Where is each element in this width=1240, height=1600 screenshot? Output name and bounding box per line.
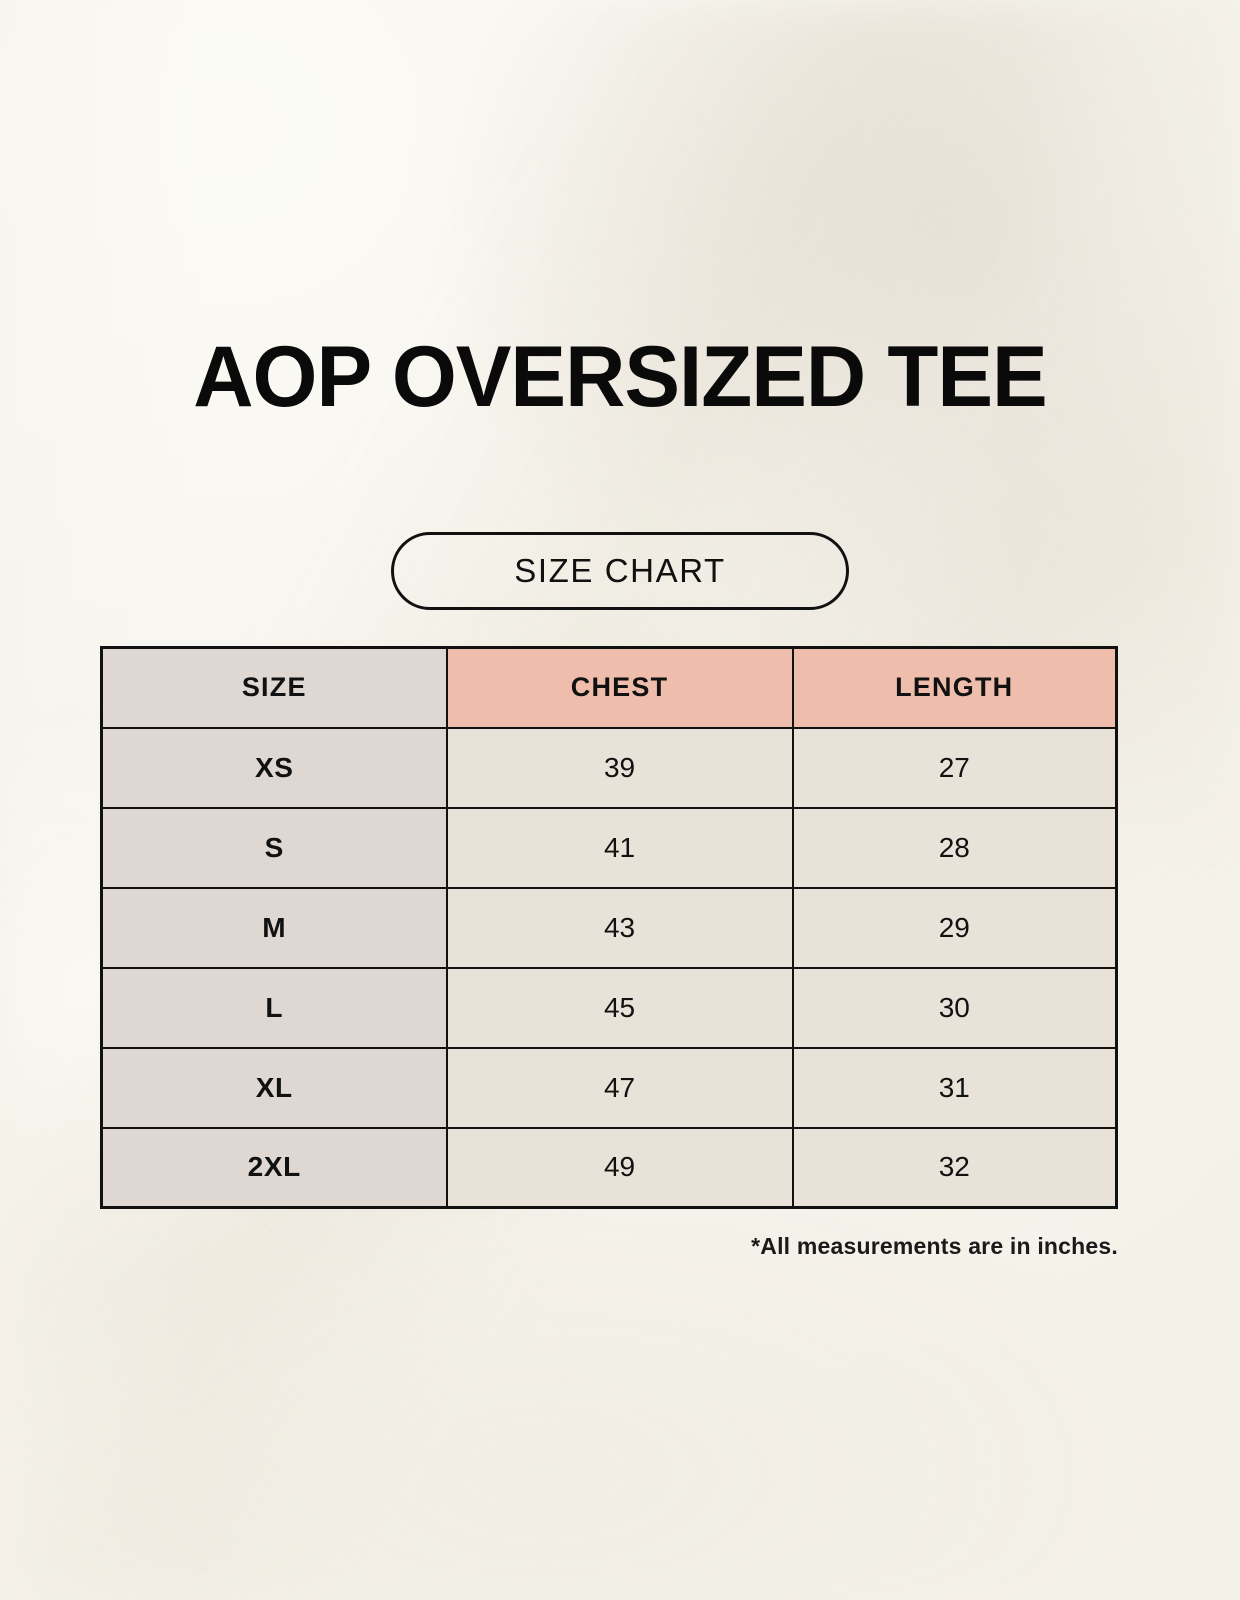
table-row: M 43 29 (102, 888, 1117, 968)
cell-chest: 39 (447, 728, 793, 808)
cell-size: XL (102, 1048, 447, 1128)
cell-chest: 43 (447, 888, 793, 968)
cell-length: 31 (793, 1048, 1117, 1128)
cell-length: 27 (793, 728, 1117, 808)
size-table: SIZE CHEST LENGTH XS 39 27 S 41 28 M (100, 646, 1118, 1209)
cell-length: 32 (793, 1128, 1117, 1208)
column-header-chest: CHEST (447, 648, 793, 728)
table-row: XL 47 31 (102, 1048, 1117, 1128)
size-chart-page: AOP OVERSIZED TEE SIZE CHART SIZE CHEST … (0, 0, 1240, 1600)
badge-container: SIZE CHART (0, 532, 1240, 610)
table-row: L 45 30 (102, 968, 1117, 1048)
cell-chest: 49 (447, 1128, 793, 1208)
page-title: AOP OVERSIZED TEE (19, 336, 1222, 419)
measurements-footnote: *All measurements are in inches. (100, 1233, 1118, 1260)
table-row: 2XL 49 32 (102, 1128, 1117, 1208)
cell-size: XS (102, 728, 447, 808)
table-row: XS 39 27 (102, 728, 1117, 808)
cell-length: 30 (793, 968, 1117, 1048)
cell-size: 2XL (102, 1128, 447, 1208)
table-header: SIZE CHEST LENGTH (102, 648, 1117, 728)
column-header-size: SIZE (102, 648, 447, 728)
cell-length: 28 (793, 808, 1117, 888)
cell-size: M (102, 888, 447, 968)
cell-chest: 45 (447, 968, 793, 1048)
table-header-row: SIZE CHEST LENGTH (102, 648, 1117, 728)
size-chart-badge: SIZE CHART (391, 532, 849, 610)
cell-size: L (102, 968, 447, 1048)
cell-length: 29 (793, 888, 1117, 968)
cell-chest: 41 (447, 808, 793, 888)
cell-size: S (102, 808, 447, 888)
table-row: S 41 28 (102, 808, 1117, 888)
column-header-length: LENGTH (793, 648, 1117, 728)
size-table-container: SIZE CHEST LENGTH XS 39 27 S 41 28 M (100, 646, 1118, 1209)
table-body: XS 39 27 S 41 28 M 43 29 L 45 30 (102, 728, 1117, 1208)
cell-chest: 47 (447, 1048, 793, 1128)
